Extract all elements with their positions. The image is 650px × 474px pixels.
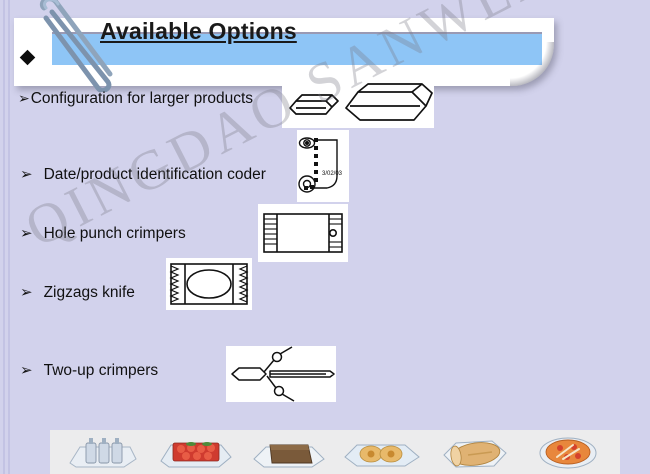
hole-punch-bag-diagram [258,204,348,262]
packaged-pizza-round [529,433,607,471]
arrow-bullet-icon: ➢ [20,285,33,300]
bullet-item-two-up-crimpers: ➢ Two-up crimpers [20,362,158,380]
product-strip [50,430,620,474]
packaged-tomatoes-tray [157,433,235,471]
slide-canvas: Available Options ➢ Configuration for la… [0,0,650,474]
bullet-label: Hole punch crimpers [44,225,186,243]
pillow-pack-boxes-diagram [282,80,434,128]
left-accent-stripe-2 [8,0,10,474]
arrow-bullet-icon: ➢ [20,363,33,378]
bullet-label: Zigzags knife [44,284,135,302]
zigzag-knife-bag-diagram [166,258,252,310]
bullet-label: Date/product identification coder [44,166,266,184]
bullet-item-coder: ➢ Date/product identification coder [20,166,266,184]
bullet-label: Configuration for larger products [31,90,253,108]
arrow-bullet-icon: ➢ [20,226,33,241]
bullet-item-configuration: ➢ Configuration for larger products [18,90,253,108]
bullet-label: Two-up crimpers [44,362,159,380]
two-up-crimper-diagram [226,346,336,402]
packaged-bread-loaf [250,433,328,471]
svg-text:3/02/03: 3/02/03 [322,171,343,177]
arrow-bullet-icon: ➢ [20,167,33,182]
left-accent-stripe-1 [3,0,5,474]
packaged-bottles-tray [64,433,142,471]
packaged-pastries-tray [343,433,421,471]
bullet-item-hole-punch: ➢ Hole punch crimpers [20,225,186,243]
packaged-roll-cake [436,433,514,471]
date-coder-diagram: 3/02/03 [297,130,349,202]
page-title: Available Options [100,18,297,45]
bullet-item-zigzag-knife: ➢ Zigzags knife [20,284,135,302]
arrow-bullet-icon: ➢ [18,91,30,105]
